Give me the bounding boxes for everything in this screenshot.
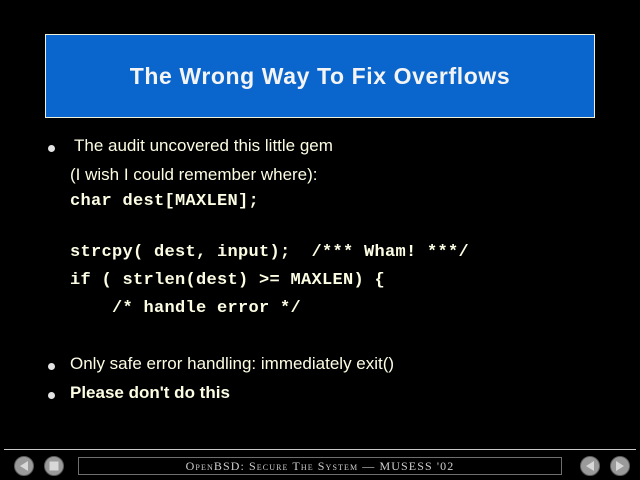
code-line-1: char dest[MAXLEN];: [70, 192, 259, 211]
square-icon: [50, 462, 59, 471]
bullet-item-1-subtext: (I wish I could remember where):: [70, 165, 318, 185]
title-banner: The Wrong Way To Fix Overflows: [45, 34, 595, 118]
footer-title: OpenBSD: Secure The System — MUSESS '02: [186, 459, 455, 474]
first-slide-button[interactable]: [14, 456, 34, 476]
bullet-dot-icon: [48, 145, 55, 152]
next-slide-button[interactable]: [610, 456, 630, 476]
footer-divider: [4, 449, 636, 450]
slide-canvas: The Wrong Way To Fix Overflows The audit…: [0, 0, 640, 480]
code-line-2: strcpy( dest, input); /*** Wham! ***/: [70, 243, 469, 262]
previous-slide-button[interactable]: [580, 456, 600, 476]
bullet-dot-icon: [48, 363, 55, 370]
triangle-left-icon: [20, 461, 28, 471]
slide-body: The audit uncovered this little gem (I w…: [0, 130, 640, 430]
footer-bar: OpenBSD: Secure The System — MUSESS '02: [0, 452, 640, 480]
triangle-right-icon: [616, 461, 624, 471]
bullet-item-2: Only safe error handling: immediately ex…: [70, 354, 394, 374]
bullet-item-3: Please don't do this: [70, 383, 230, 403]
footer-label-box: OpenBSD: Secure The System — MUSESS '02: [78, 457, 562, 475]
code-line-3: if ( strlen(dest) >= MAXLEN) {: [70, 271, 385, 290]
page-title: The Wrong Way To Fix Overflows: [130, 63, 511, 90]
triangle-left-icon: [586, 461, 594, 471]
stop-button[interactable]: [44, 456, 64, 476]
bullet-dot-icon: [48, 392, 55, 399]
code-line-4: /* handle error */: [70, 299, 301, 318]
bullet-item-1: The audit uncovered this little gem: [74, 136, 333, 156]
